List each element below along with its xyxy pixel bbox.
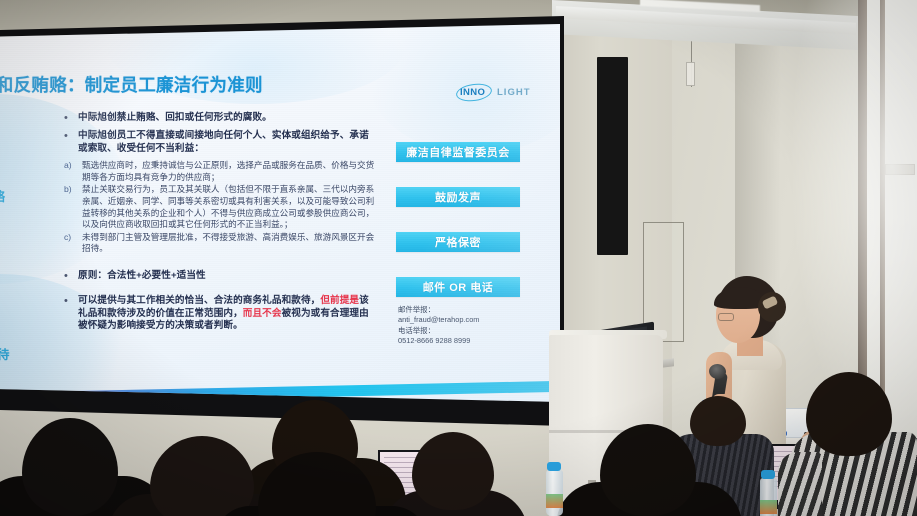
pill-confidentiality: 严格保密: [396, 232, 520, 252]
email-label: 邮件举报：: [398, 305, 524, 315]
logo-inno-text: INNO: [460, 87, 485, 98]
water-bottle-cap: [761, 470, 775, 479]
bullet-item: • 中际旭创员工不得直接或间接地向任何个人、实体或组织给予、承诺或索取、收受任何…: [64, 130, 376, 155]
audience-member-head: [412, 432, 494, 510]
report-contact-block: 邮件举报： anti_fraud@terahop.com 电话举报： 0512-…: [396, 305, 524, 347]
audience-member-head: [600, 424, 696, 516]
phone-number: 0512-8666 9288 8999: [398, 336, 524, 346]
slide-body: • 中际旭创禁止贿赂、回扣或任何形式的腐败。 • 中际旭创员工不得直接或间接地向…: [64, 112, 376, 338]
presentation-room-photo: 败和反贿赂：制定员工廉洁行为准则 INNO LIGHT 贿赂 和招待 • 中际旭…: [0, 0, 917, 516]
bullet-item: • 原则：合法性+必要性+适当性: [64, 270, 376, 283]
sub-item-text: 禁止关联交易行为，员工及其关联人（包括但不限于直系亲属、三代以内旁系亲属、近姻亲…: [82, 184, 376, 230]
left-section-tag-2: 和招待: [0, 344, 10, 363]
pill-encourage-speak: 鼓励发声: [396, 187, 520, 207]
water-bottle: [546, 470, 563, 516]
wall-speaker-panel: [597, 57, 628, 255]
email-address: anti_fraud@terahop.com: [398, 315, 524, 325]
audience-member-head: [806, 372, 892, 456]
bullet-marker: •: [64, 270, 78, 283]
pill-committee: 廉洁自律监督委员会: [396, 142, 520, 162]
gift-policy-item: • 可以提供与其工作相关的恰当、合法的商务礼品和款待，但前提是该礼品和款待涉及的…: [64, 295, 376, 333]
ceiling-sensor: [686, 62, 695, 86]
slide-title: 败和反贿赂：制定员工廉洁行为准则: [0, 72, 398, 97]
sub-item-marker: c): [64, 232, 82, 255]
bullet-marker: •: [64, 130, 78, 155]
gift-highlight-1: 但前提是: [320, 295, 359, 306]
audience-member-head: [690, 396, 746, 446]
sub-item-marker: b): [64, 184, 82, 230]
water-bottle-cap: [547, 462, 561, 471]
water-bottle-label: [760, 500, 777, 514]
gift-highlight-2: 而且不会: [243, 308, 282, 319]
slide-surface: 败和反贿赂：制定员工廉洁行为准则 INNO LIGHT 贿赂 和招待 • 中际旭…: [0, 24, 560, 402]
bullet-text: 原则：合法性+必要性+适当性: [78, 270, 206, 283]
pill-email-or-phone: 邮件 OR 电话: [396, 277, 520, 297]
bullet-text: 中际旭创员工不得直接或间接地向任何个人、实体或组织给予、承诺或索取、收受任何不当…: [78, 130, 376, 155]
sub-item-marker: a): [64, 160, 82, 183]
sub-item: c) 未得到部门主管及管理层批准，不得接受旅游、高消费娱乐、旅游风景区开会招待。: [64, 232, 376, 255]
bullet-marker: •: [64, 112, 78, 125]
gift-policy-text: 可以提供与其工作相关的恰当、合法的商务礼品和款待，但前提是该礼品和款待涉及的价值…: [78, 295, 376, 333]
projection-screen-area: 败和反贿赂：制定员工廉洁行为准则 INNO LIGHT 贿赂 和招待 • 中际旭…: [0, 0, 572, 430]
logo-light-text: LIGHT: [497, 87, 531, 98]
presenter-glasses-icon: [718, 313, 734, 321]
innolight-logo: INNO LIGHT: [456, 82, 548, 104]
phone-label: 电话举报：: [398, 326, 524, 336]
bullet-marker: •: [64, 295, 78, 333]
sub-item: b) 禁止关联交易行为，员工及其关联人（包括但不限于直系亲属、三代以内旁系亲属、…: [64, 184, 376, 230]
audience-member-arm-striped: [778, 452, 822, 516]
bullet-text: 中际旭创禁止贿赂、回扣或任何形式的腐败。: [78, 112, 272, 125]
audience-member-head: [22, 418, 118, 516]
sub-item-text: 甄选供应商时，应秉持诚信与公正原则，选择产品或服务在品质、价格与交货期等各方面均…: [82, 160, 376, 183]
slide-callout-column: 廉洁自律监督委员会 鼓励发声 严格保密 邮件 OR 电话 邮件举报： anti_…: [396, 142, 524, 347]
water-bottle-label: [546, 494, 563, 508]
sub-item: a) 甄选供应商时，应秉持诚信与公正原则，选择产品或服务在品质、价格与交货期等各…: [64, 160, 376, 183]
bullet-item: • 中际旭创禁止贿赂、回扣或任何形式的腐败。: [64, 112, 376, 125]
left-section-tag-1: 贿赂: [0, 186, 5, 205]
gift-part-1: 可以提供与其工作相关的恰当、合法的商务礼品和款待，: [78, 295, 320, 306]
sub-item-text: 未得到部门主管及管理层批准，不得接受旅游、高消费娱乐、旅游风景区开会招待。: [82, 232, 376, 255]
